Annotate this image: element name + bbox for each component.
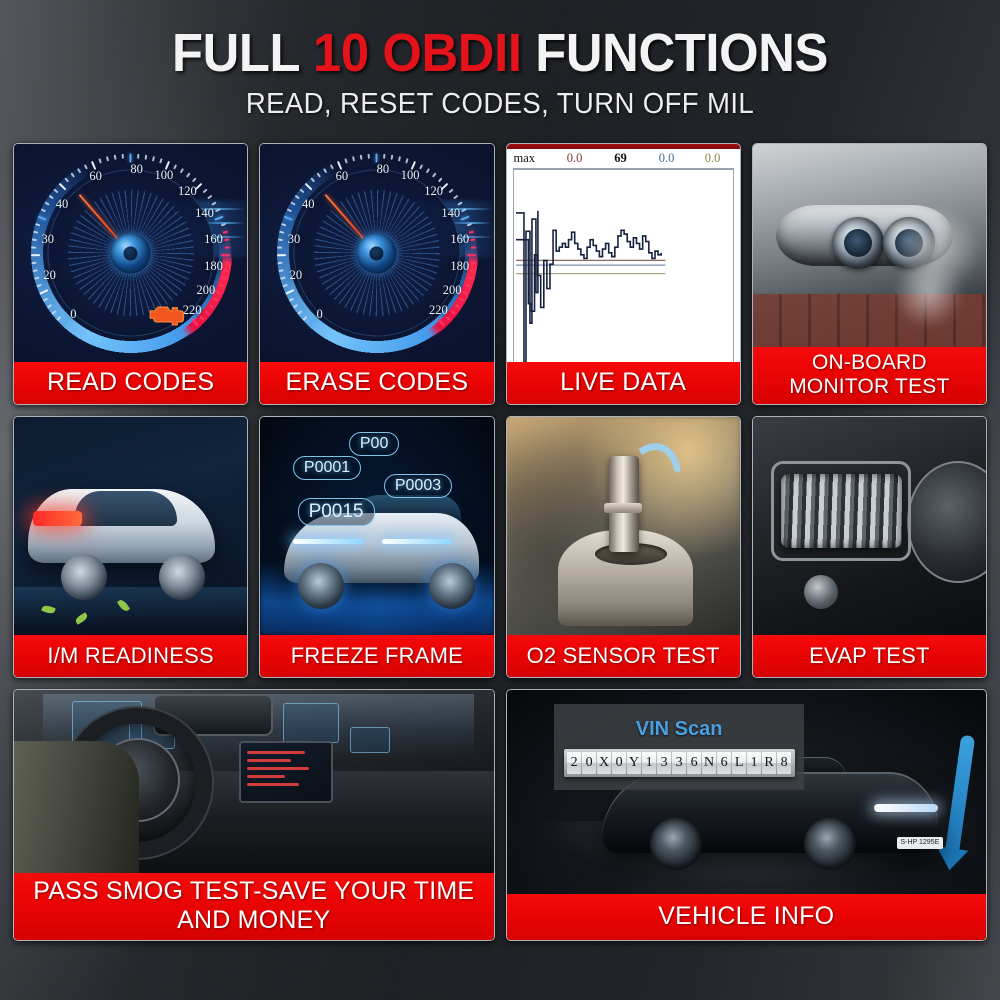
wheel	[429, 563, 475, 609]
license-plate: S-HP 1295E	[897, 837, 943, 849]
card-live-data-media: max 0.0 69 0.0 0.0 min 0.0 42	[507, 144, 740, 362]
card-vehicle-info-label: VEHICLE INFO	[507, 894, 987, 940]
vin-character: N	[702, 752, 716, 774]
vin-character: 1	[747, 752, 761, 774]
label-line-1: PASS SMOG TEST-SAVE YOUR TIME	[33, 877, 474, 906]
feature-row-1: 02030406080100120140160180200220 READ CO…	[0, 143, 1000, 405]
card-vehicle-info-media: S-HP 1295E VIN Scan 20X0Y1336N6L1R8	[507, 690, 987, 894]
card-read-codes-media: 02030406080100120140160180200220	[14, 144, 247, 362]
gauge-tick-label: 30	[288, 232, 301, 247]
card-freeze-frame[interactable]: P00 P0001 P0003 P0015 FREEZE FRAME	[259, 416, 494, 678]
vin-character: Y	[627, 752, 641, 774]
gauge-tick-label: 120	[178, 184, 197, 199]
white-sports-car-photo	[14, 417, 247, 635]
tail-light	[33, 511, 82, 526]
vin-character: 3	[672, 752, 686, 774]
gauge-tick-label: 20	[43, 268, 56, 283]
gauge-tick-label: 220	[183, 303, 202, 318]
vin-character: X	[597, 752, 611, 774]
dtc-code-chip: P0001	[293, 456, 361, 480]
gauge-tick-label: 100	[154, 168, 173, 183]
exhaust-tip-left	[832, 217, 884, 269]
gauge-tick-label: 200	[443, 283, 462, 298]
max-value-3: 0.0	[644, 151, 690, 166]
label-line-2: AND MONEY	[33, 906, 474, 935]
gauge-tick-label: 60	[336, 169, 349, 184]
gauge-tick-label: 120	[424, 184, 443, 199]
card-o2-sensor-test-label: O2 SENSOR TEST	[507, 635, 740, 677]
max-label: max	[514, 151, 552, 166]
vin-scan-panel: VIN Scan 20X0Y1336N6L1R8	[554, 704, 803, 790]
air-vent-louvers	[781, 474, 902, 548]
gauge-tick-label: 160	[204, 232, 223, 247]
vin-character: 6	[687, 752, 701, 774]
live-data-waveform	[514, 170, 733, 362]
label-line-1: ON-BOARD	[789, 351, 949, 375]
card-freeze-frame-media: P00 P0001 P0003 P0015	[260, 417, 493, 635]
gauge-tick-label: 160	[450, 232, 469, 247]
gauge-tick-label: 200	[196, 283, 215, 298]
feature-row-3: PASS SMOG TEST-SAVE YOUR TIME AND MONEY …	[0, 689, 1000, 941]
blue-car-photo: P00 P0001 P0003 P0015	[260, 417, 493, 635]
live-data-screen: max 0.0 69 0.0 0.0 min 0.0 42	[507, 144, 740, 362]
card-pass-smog-test-label: PASS SMOG TEST-SAVE YOUR TIME AND MONEY	[14, 873, 494, 940]
gauge-tick-label: 30	[41, 232, 54, 247]
gauge-tick-label: 180	[450, 259, 469, 274]
exhaust-photo	[753, 144, 986, 347]
max-value-4: 0.0	[690, 151, 736, 166]
headlight	[874, 804, 938, 812]
page-subtitle: READ, RESET CODES, TURN OFF MIL	[25, 88, 975, 121]
hud-overlay	[350, 727, 390, 753]
vin-scan-title: VIN Scan	[636, 718, 723, 741]
vin-character: R	[762, 752, 776, 774]
black-sedan-photo: S-HP 1295E VIN Scan 20X0Y1336N6L1R8	[507, 690, 987, 894]
infotainment-screen	[239, 741, 333, 803]
card-erase-codes-label: ERASE CODES	[260, 362, 493, 404]
wheel	[159, 554, 205, 600]
speedometer-gauge: 02030406080100120140160180200220	[269, 146, 484, 361]
driver-interior-photo	[14, 690, 494, 873]
gauge-hub	[357, 233, 397, 273]
driver-arm	[14, 741, 139, 873]
wheel	[61, 554, 107, 600]
car-window	[75, 491, 178, 526]
card-live-data[interactable]: max 0.0 69 0.0 0.0 min 0.0 42	[506, 143, 741, 405]
dtc-code-chip: P0003	[384, 474, 452, 498]
dashboard-vent-photo	[753, 417, 986, 635]
gauge-tick-label: 40	[302, 197, 315, 212]
headlight	[382, 539, 452, 544]
gauge-tick-label: 140	[195, 206, 214, 221]
vin-character: 3	[657, 752, 671, 774]
hud-overlay	[283, 703, 339, 743]
gauge-tick-label: 220	[429, 303, 448, 318]
card-freeze-frame-label: FREEZE FRAME	[260, 635, 493, 677]
card-im-readiness-label: I/M READINESS	[14, 635, 247, 677]
gauge-tick-label: 20	[290, 268, 303, 283]
card-live-data-label: LIVE DATA	[507, 362, 740, 404]
dtc-code-chip: P00	[349, 432, 399, 456]
card-pass-smog-test[interactable]: PASS SMOG TEST-SAVE YOUR TIME AND MONEY	[13, 689, 495, 941]
title-part-pre: FULL	[172, 23, 313, 83]
gauge-tick-label: 100	[401, 168, 420, 183]
card-o2-sensor-test[interactable]: O2 SENSOR TEST	[506, 416, 741, 678]
title-part-post: FUNCTIONS	[522, 23, 828, 83]
gauge-tick-label: 40	[56, 197, 69, 212]
check-engine-icon	[145, 301, 185, 328]
card-read-codes[interactable]: 02030406080100120140160180200220 READ CO…	[13, 143, 248, 405]
gauge-tick-label: 80	[130, 162, 143, 177]
speedometer-gauge: 02030406080100120140160180200220	[23, 146, 238, 361]
page-title: FULL 10 OBDII FUNCTIONS	[30, 24, 970, 82]
card-read-codes-label: READ CODES	[14, 362, 247, 404]
header: FULL 10 OBDII FUNCTIONS READ, RESET CODE…	[0, 0, 1000, 140]
vin-character: 6	[717, 752, 731, 774]
gauge-hub	[111, 233, 151, 273]
vin-character: L	[732, 752, 746, 774]
live-data-plot	[513, 169, 734, 362]
max-value-1: 0.0	[552, 151, 598, 166]
card-on-board-monitor[interactable]: ON-BOARD MONITOR TEST	[752, 143, 987, 405]
smoke-plume	[893, 258, 963, 328]
card-o2-sensor-test-media	[507, 417, 740, 635]
gauge-tick-label: 80	[377, 162, 390, 177]
card-evap-test[interactable]: EVAP TEST	[752, 416, 987, 678]
card-erase-codes[interactable]: 02030406080100120140160180200220 ERASE C…	[259, 143, 494, 405]
wheel	[650, 818, 702, 870]
vin-character-strip: 20X0Y1336N6L1R8	[564, 749, 795, 777]
sensor-hex-nut	[604, 503, 642, 513]
instrument-dial	[907, 461, 986, 583]
vin-character: 0	[612, 752, 626, 774]
gauge-tick-label: 0	[70, 307, 76, 322]
max-value-2: 69	[598, 151, 644, 166]
dtc-code-chip: P0015	[298, 498, 375, 526]
oxygen-sensor-photo	[507, 417, 740, 635]
headlight-knob	[804, 575, 838, 609]
label-line-2: MONITOR TEST	[789, 375, 949, 399]
gauge-tick-label: 60	[89, 169, 102, 184]
wheel	[298, 563, 344, 609]
vin-character: 1	[642, 752, 656, 774]
live-data-max-row: max 0.0 69 0.0 0.0	[507, 149, 740, 168]
card-evap-test-label: EVAP TEST	[753, 635, 986, 677]
card-pass-smog-test-media	[14, 690, 494, 873]
gauge-tick-label: 0	[316, 307, 322, 322]
card-im-readiness-media	[14, 417, 247, 635]
gauge-tick-label: 140	[441, 206, 460, 221]
vin-character: 8	[777, 752, 791, 774]
card-evap-test-media	[753, 417, 986, 635]
feature-row-2: I/M READINESS P00 P0001 P0003 P0015	[0, 416, 1000, 678]
feature-grid: 02030406080100120140160180200220 READ CO…	[0, 143, 1000, 952]
card-erase-codes-media: 02030406080100120140160180200220	[260, 144, 493, 362]
headlight	[293, 539, 363, 544]
card-im-readiness[interactable]: I/M READINESS	[13, 416, 248, 678]
gauge-tick-label: 180	[204, 259, 223, 274]
vin-character: 0	[582, 752, 596, 774]
card-on-board-monitor-label: ON-BOARD MONITOR TEST	[753, 347, 986, 404]
title-part-highlight: 10 OBDII	[313, 23, 522, 83]
card-vehicle-info[interactable]: S-HP 1295E VIN Scan 20X0Y1336N6L1R8 VEHI…	[506, 689, 988, 941]
card-on-board-monitor-media	[753, 144, 986, 347]
wheel	[804, 818, 856, 870]
vin-character: 2	[567, 752, 581, 774]
